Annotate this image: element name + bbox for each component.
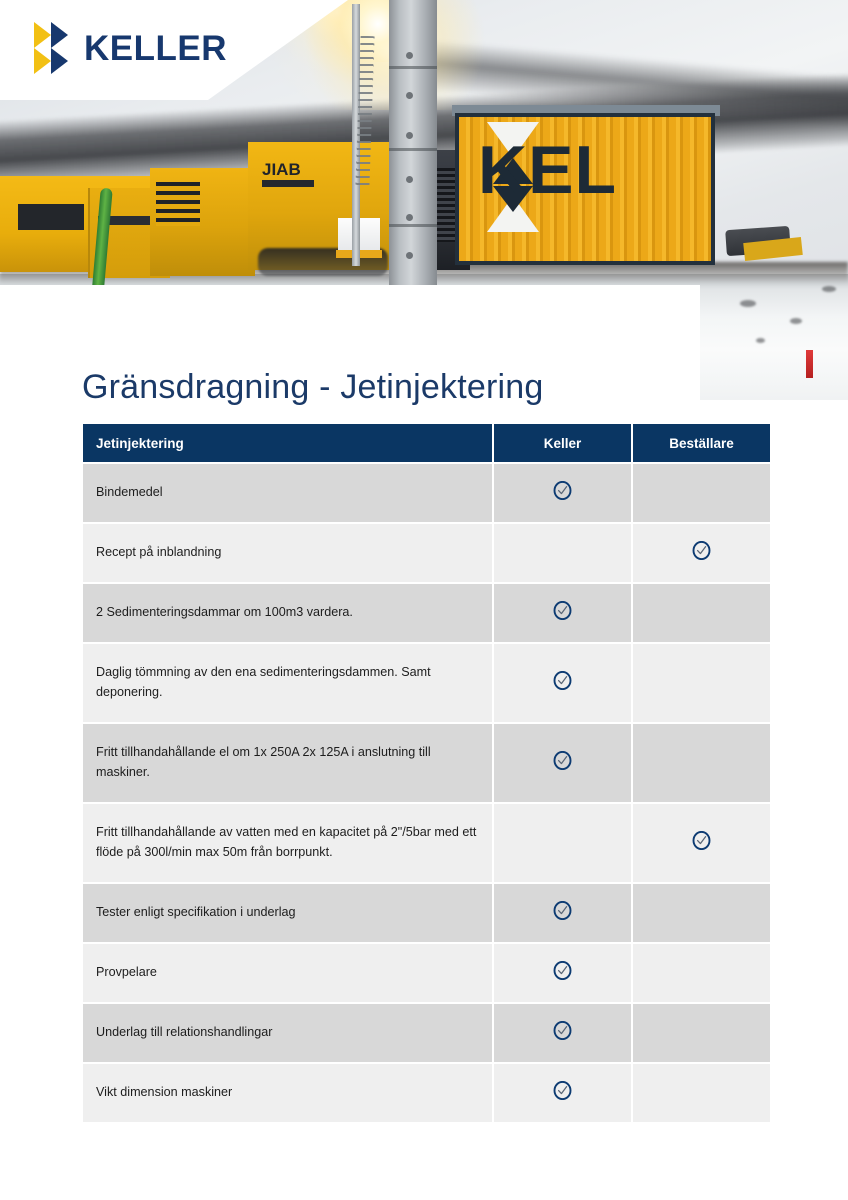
empty-mark xyxy=(553,831,572,850)
photo-machine-mid-vents xyxy=(156,182,200,226)
empty-mark xyxy=(692,1081,711,1100)
cell-task: 2 Sedimenteringsdammar om 100m3 vardera. xyxy=(83,584,492,642)
empty-mark xyxy=(692,961,711,980)
cell-bestallare xyxy=(633,584,770,642)
photo-machine-left-panel xyxy=(18,204,84,230)
cell-keller xyxy=(494,804,631,882)
check-circle-icon xyxy=(553,1021,572,1040)
photo-red-marker xyxy=(806,350,813,378)
photo-pillar-bolt xyxy=(406,252,413,259)
keller-logo: KELLER xyxy=(34,22,227,74)
photo-snow-speck xyxy=(756,338,765,343)
column-header-task: Jetinjektering xyxy=(83,424,492,462)
cell-keller xyxy=(494,1064,631,1122)
cell-keller xyxy=(494,464,631,522)
keller-wordmark: KELLER xyxy=(84,31,227,66)
cell-bestallare xyxy=(633,944,770,1002)
photo-pillar-bolt xyxy=(406,132,413,139)
photo-jiab-text: JIAB xyxy=(262,160,301,180)
empty-mark xyxy=(692,601,711,620)
table-row: Recept på inblandning xyxy=(83,524,770,582)
photo-concrete-pillar xyxy=(389,0,437,290)
cell-keller xyxy=(494,1004,631,1062)
table-row: Bindemedel xyxy=(83,464,770,522)
cell-keller xyxy=(494,884,631,942)
photo-pillar-bolt xyxy=(406,176,413,183)
check-circle-icon xyxy=(553,601,572,620)
cell-keller xyxy=(494,944,631,1002)
check-circle-icon xyxy=(553,901,572,920)
cell-task: Fritt tillhandahållande av vatten med en… xyxy=(83,804,492,882)
cell-task: Fritt tillhandahållande el om 1x 250A 2x… xyxy=(83,724,492,802)
logo-wedge-yellow-top xyxy=(34,22,51,48)
keller-arrow-mark-icon xyxy=(34,22,68,74)
cell-task: Daglig tömmning av den ena sedimentering… xyxy=(83,644,492,722)
cell-task: Provpelare xyxy=(83,944,492,1002)
check-circle-icon xyxy=(692,541,711,560)
photo-jiab-subtext xyxy=(262,180,314,187)
empty-mark xyxy=(692,901,711,920)
check-circle-icon xyxy=(553,1081,572,1100)
logo-wedge-navy-top xyxy=(51,22,68,48)
check-circle-icon xyxy=(692,831,711,850)
cell-task: Bindemedel xyxy=(83,464,492,522)
cell-keller xyxy=(494,584,631,642)
cell-task: Vikt dimension maskiner xyxy=(83,1064,492,1122)
table-header: Jetinjektering Keller Beställare xyxy=(83,424,770,462)
empty-mark xyxy=(692,751,711,770)
photo-snow-speck xyxy=(822,286,836,292)
photo-pillar-bolt xyxy=(406,214,413,221)
photo-pillar-bolt xyxy=(406,52,413,59)
cell-task: Underlag till relationshandlingar xyxy=(83,1004,492,1062)
cell-bestallare xyxy=(633,644,770,722)
table-row: Fritt tillhandahållande el om 1x 250A 2x… xyxy=(83,724,770,802)
table-row: Tester enligt specifikation i underlag xyxy=(83,884,770,942)
cell-task: Tester enligt specifikation i underlag xyxy=(83,884,492,942)
responsibility-table-wrapper: Jetinjektering Keller Beställare Bindeme… xyxy=(81,422,768,1124)
cell-bestallare xyxy=(633,1064,770,1122)
photo-pillar-band xyxy=(389,224,437,227)
check-circle-icon xyxy=(553,481,572,500)
table-row: Underlag till relationshandlingar xyxy=(83,1004,770,1062)
table-body: BindemedelRecept på inblandning2 Sedimen… xyxy=(83,464,770,1122)
document-page: JIAB KEL xyxy=(0,0,848,1200)
empty-mark xyxy=(553,541,572,560)
photo-pillar-bolt xyxy=(406,92,413,99)
page-title: Gränsdragning - Jetinjektering xyxy=(82,368,543,407)
cell-task: Recept på inblandning xyxy=(83,524,492,582)
photo-snow-speck xyxy=(790,318,802,324)
empty-mark xyxy=(692,481,711,500)
cell-bestallare xyxy=(633,1004,770,1062)
photo-pillar-band xyxy=(389,148,437,151)
table-row: Fritt tillhandahållande av vatten med en… xyxy=(83,804,770,882)
cell-bestallare xyxy=(633,884,770,942)
table-row: Provpelare xyxy=(83,944,770,1002)
cell-keller xyxy=(494,524,631,582)
table-row: Daglig tömmning av den ena sedimentering… xyxy=(83,644,770,722)
table-row: 2 Sedimenteringsdammar om 100m3 vardera. xyxy=(83,584,770,642)
cell-bestallare xyxy=(633,464,770,522)
column-header-bestallare: Beställare xyxy=(633,424,770,462)
photo-container-text: KEL xyxy=(478,136,617,204)
photo-snow-speck xyxy=(740,300,756,307)
cell-keller xyxy=(494,644,631,722)
check-circle-icon xyxy=(553,671,572,690)
column-header-keller: Keller xyxy=(494,424,631,462)
check-circle-icon xyxy=(553,751,572,770)
check-circle-icon xyxy=(553,961,572,980)
photo-pillar-band xyxy=(389,66,437,69)
cell-keller xyxy=(494,724,631,802)
cell-bestallare xyxy=(633,524,770,582)
cell-bestallare xyxy=(633,804,770,882)
empty-mark xyxy=(692,671,711,690)
logo-wedge-navy-bottom xyxy=(51,48,68,74)
cell-bestallare xyxy=(633,724,770,802)
logo-wedge-yellow-bottom xyxy=(34,48,51,74)
responsibility-table: Jetinjektering Keller Beställare Bindeme… xyxy=(81,422,772,1124)
table-header-row: Jetinjektering Keller Beställare xyxy=(83,424,770,462)
empty-mark xyxy=(692,1021,711,1040)
table-row: Vikt dimension maskiner xyxy=(83,1064,770,1122)
